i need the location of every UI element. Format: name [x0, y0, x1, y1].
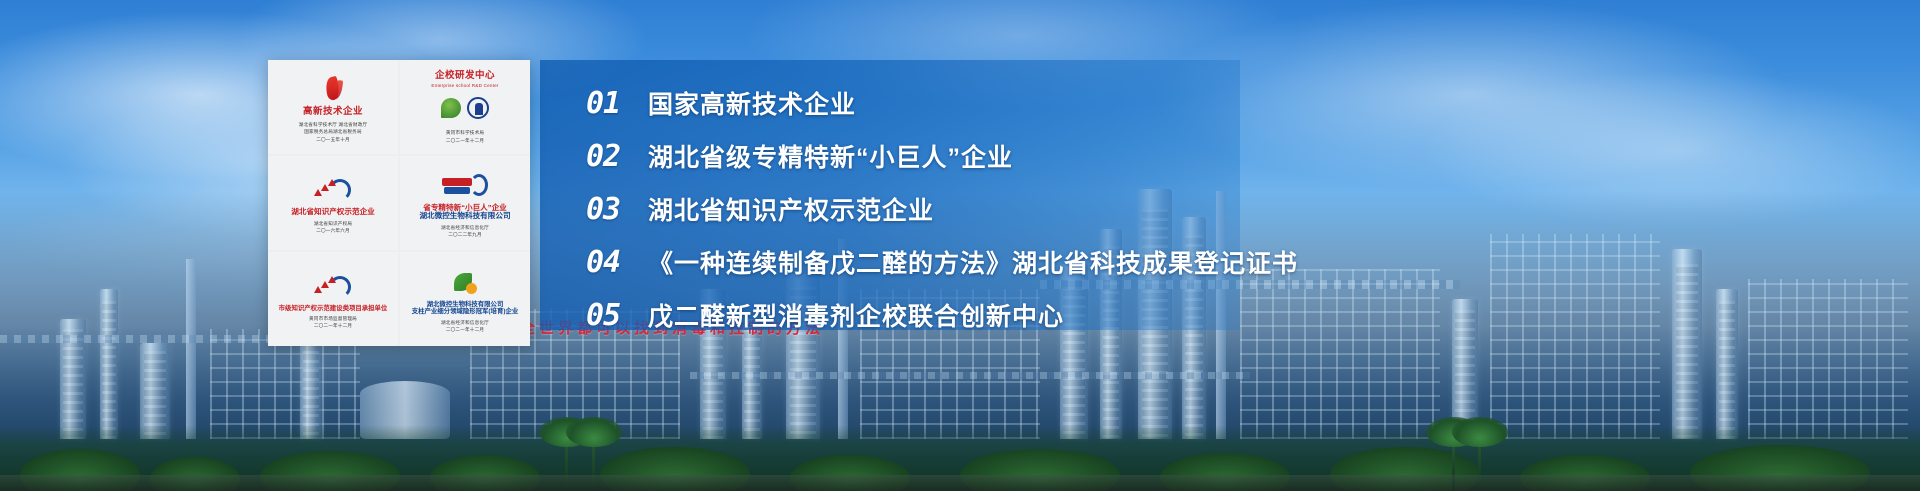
- honor-item-text: 国家高新技术企业: [648, 93, 856, 118]
- certificate-card[interactable]: 高新技术企业 湖北省科学技术厅 湖北省财政厅 国家税务总局湖北省税务局 二〇一五…: [268, 60, 398, 154]
- certificate-card[interactable]: 湖北微控生物科技有限公司 支柱产业细分领域隐形冠军(培育)企业 湖北省经济和信息…: [400, 252, 530, 346]
- zhuanjingtexin-ribbon-logo-icon: [442, 169, 488, 203]
- road-strip: [0, 475, 1920, 491]
- certificate-title: 市级知识产权示范建设类项目承担单位: [279, 305, 388, 312]
- enterprise-school-rd-center-logo-icon: [441, 91, 489, 125]
- certificate-title: 湖北省知识产权示范企业: [291, 208, 375, 217]
- green-leaf-logo-icon: [452, 266, 478, 300]
- certificate-title: 高新技术企业: [303, 107, 363, 118]
- certificate-subtitle-en: Enterprise school R&D Center: [431, 82, 498, 89]
- honor-item-number: 02: [586, 139, 648, 174]
- certificate-issuer: 湖北省知识产权局 二〇一六年六月: [314, 220, 352, 234]
- honor-item-text: 《一种连续制备戊二醛的方法》湖北省科技成果登记证书: [648, 252, 1298, 277]
- honor-list-item: 01 国家高新技术企业: [586, 86, 1240, 121]
- star-swoosh-logo-icon: [313, 270, 353, 304]
- honor-item-number: 04: [586, 245, 648, 280]
- honor-list-panel: 01 国家高新技术企业 02 湖北省级专精特新“小巨人”企业 03 湖北省知识产…: [540, 60, 1240, 330]
- honor-item-number: 05: [586, 298, 648, 333]
- greenery-strip: [0, 425, 1920, 491]
- honor-item-text: 湖北省知识产权示范企业: [648, 199, 934, 224]
- certificate-board: 高新技术企业 湖北省科学技术厅 湖北省财政厅 国家税务总局湖北省税务局 二〇一五…: [268, 60, 530, 346]
- certificate-card[interactable]: 企校研发中心 Enterprise school R&D Center 黄冈市科…: [400, 60, 530, 154]
- certificate-issuer: 湖北省经济和信息化厅 二〇二一年十二月: [441, 319, 489, 333]
- honor-item-text: 戊二醛新型消毒剂企校联合创新中心: [648, 305, 1064, 330]
- certificate-card[interactable]: 湖北省知识产权示范企业 湖北省知识产权局 二〇一六年六月: [268, 156, 398, 250]
- certificate-issuer: 黄冈市市场监督管理局 二〇二一年十二月: [309, 315, 357, 329]
- honor-list-item: 02 湖北省级专精特新“小巨人”企业: [586, 139, 1240, 174]
- honor-item-text: 湖北省级专精特新“小巨人”企业: [648, 146, 1013, 171]
- certificate-title: 支柱产业细分领域隐形冠军(培育)企业: [412, 308, 519, 315]
- certificate-title: 企校研发中心: [435, 71, 495, 82]
- certificate-issuer: 湖北省经济和信息化厅 二〇二二年九月: [441, 224, 489, 238]
- certificate-issuer: 黄冈市科学技术局 二〇二一年十二月: [446, 129, 484, 143]
- honor-list-item: 03 湖北省知识产权示范企业: [586, 192, 1240, 227]
- star-swoosh-logo-icon: [313, 173, 353, 207]
- honor-item-number: 01: [586, 86, 648, 121]
- certificate-card[interactable]: 市级知识产权示范建设类项目承担单位 黄冈市市场监督管理局 二〇二一年十二月: [268, 252, 398, 346]
- certificate-issuer: 湖北省科学技术厅 湖北省财政厅 国家税务总局湖北省税务局 二〇一五年十月: [299, 121, 368, 142]
- certificate-company: 湖北微控生物科技有限公司: [419, 212, 510, 221]
- honor-item-number: 03: [586, 192, 648, 227]
- flame-logo-icon: [322, 72, 344, 106]
- honor-list-item: 05 戊二醛新型消毒剂企校联合创新中心: [586, 298, 1240, 333]
- promo-banner: 全世界都可以找到消毒和控制的方法 高新技术企业 湖北省科学技术厅 湖北省财政厅 …: [0, 0, 1920, 491]
- honor-list-item: 04 《一种连续制备戊二醛的方法》湖北省科技成果登记证书: [586, 245, 1240, 280]
- certificate-card[interactable]: 省专精特新“小巨人”企业 湖北微控生物科技有限公司 湖北省经济和信息化厅 二〇二…: [400, 156, 530, 250]
